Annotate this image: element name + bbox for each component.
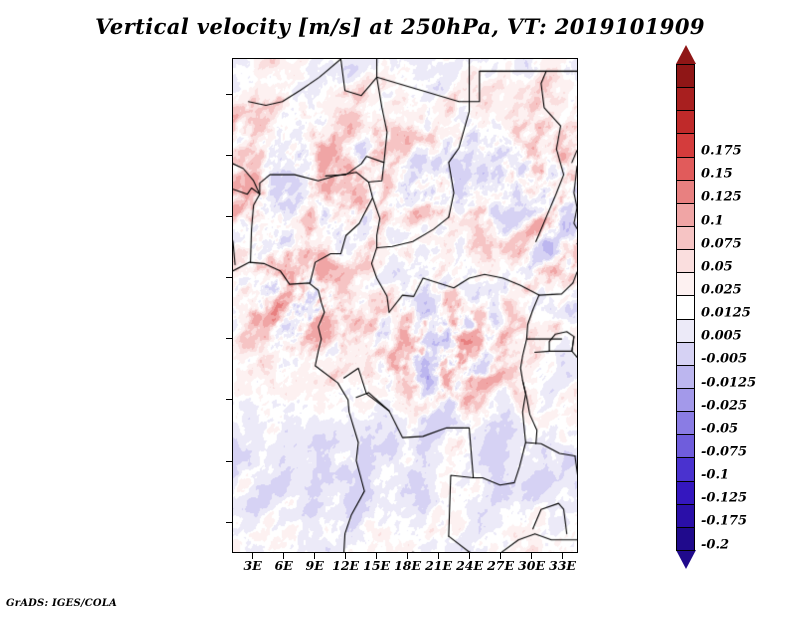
colorbar-label: 0.175 [701, 144, 742, 159]
colorbar-swatch [676, 87, 695, 111]
lat-tick-mark [226, 216, 232, 217]
colorbar-swatch [676, 434, 695, 458]
colorbar-label: 0.05 [701, 259, 733, 274]
colorbar-swatch [676, 180, 695, 204]
colorbar-swatch [676, 504, 695, 528]
lon-tick-label: 30E [518, 558, 545, 573]
colorbar-label: -0.175 [701, 514, 747, 529]
lon-tick-label: 18E [394, 558, 421, 573]
colorbar-arrow-bottom [676, 550, 696, 569]
colorbar-swatch [676, 64, 695, 88]
lon-tick-mark [345, 553, 346, 559]
colorbar-label: -0.125 [701, 491, 747, 506]
map-plot-area[interactable] [232, 58, 578, 553]
lat-tick-mark [226, 522, 232, 523]
colorbar-label: -0.0125 [701, 375, 756, 390]
colorbar-swatch [676, 411, 695, 435]
colorbar-label: 0.075 [701, 236, 742, 251]
lon-tick-mark [314, 553, 315, 559]
lon-tick-label: 12E [332, 558, 359, 573]
lon-tick-mark [438, 553, 439, 559]
lon-tick-mark [252, 553, 253, 559]
lat-tick-mark [226, 338, 232, 339]
colorbar-label: -0.075 [701, 445, 747, 460]
colorbar-arrow-top [676, 45, 696, 64]
colorbar-label: 0.005 [701, 329, 742, 344]
colorbar[interactable]: 0.1750.150.1250.10.0750.050.0250.01250.0… [676, 64, 695, 550]
colorbar-swatch [676, 272, 695, 296]
colorbar-swatch [676, 110, 695, 134]
colorbar-swatch [676, 133, 695, 157]
colorbar-label: -0.1 [701, 468, 729, 483]
lon-tick-mark [407, 553, 408, 559]
colorbar-label: -0.025 [701, 398, 747, 413]
lat-tick-mark [226, 399, 232, 400]
lon-tick-label: 9E [306, 558, 324, 573]
colorbar-swatch [676, 295, 695, 319]
colorbar-label: 0.025 [701, 283, 742, 298]
lon-tick-label: 15E [363, 558, 390, 573]
lon-tick-mark [283, 553, 284, 559]
colorbar-label: -0.005 [701, 352, 747, 367]
colorbar-label: 0.1 [701, 213, 724, 228]
colorbar-label: 0.125 [701, 190, 742, 205]
lat-tick-mark [226, 277, 232, 278]
colorbar-swatch [676, 249, 695, 273]
grads-attribution: GrADS: IGES/COLA [6, 598, 117, 609]
country-borders-overlay [233, 59, 577, 552]
lon-tick-mark [500, 553, 501, 559]
colorbar-label: -0.05 [701, 421, 738, 436]
lon-tick-label: 21E [425, 558, 452, 573]
lon-tick-label: 24E [456, 558, 483, 573]
colorbar-swatch [676, 527, 695, 551]
lon-tick-mark [469, 553, 470, 559]
lon-tick-label: 33E [549, 558, 576, 573]
colorbar-swatch [676, 226, 695, 250]
lon-tick-mark [376, 553, 377, 559]
lon-tick-label: 6E [275, 558, 293, 573]
lon-tick-label: 27E [487, 558, 514, 573]
colorbar-swatch [676, 342, 695, 366]
colorbar-swatch [676, 388, 695, 412]
lat-tick-mark [226, 155, 232, 156]
page-title: Vertical velocity [m/s] at 250hPa, VT: 2… [0, 14, 800, 39]
colorbar-swatch [676, 457, 695, 481]
colorbar-label: -0.2 [701, 537, 729, 552]
colorbar-label: 0.15 [701, 167, 733, 182]
colorbar-label: 0.0125 [701, 306, 751, 321]
colorbar-swatch [676, 203, 695, 227]
lat-tick-mark [226, 94, 232, 95]
lat-tick-mark [226, 461, 232, 462]
lon-tick-mark [562, 553, 563, 559]
colorbar-swatch [676, 481, 695, 505]
lon-tick-label: 3E [244, 558, 262, 573]
colorbar-swatch [676, 319, 695, 343]
colorbar-swatch [676, 365, 695, 389]
colorbar-swatch [676, 157, 695, 181]
lon-tick-mark [531, 553, 532, 559]
